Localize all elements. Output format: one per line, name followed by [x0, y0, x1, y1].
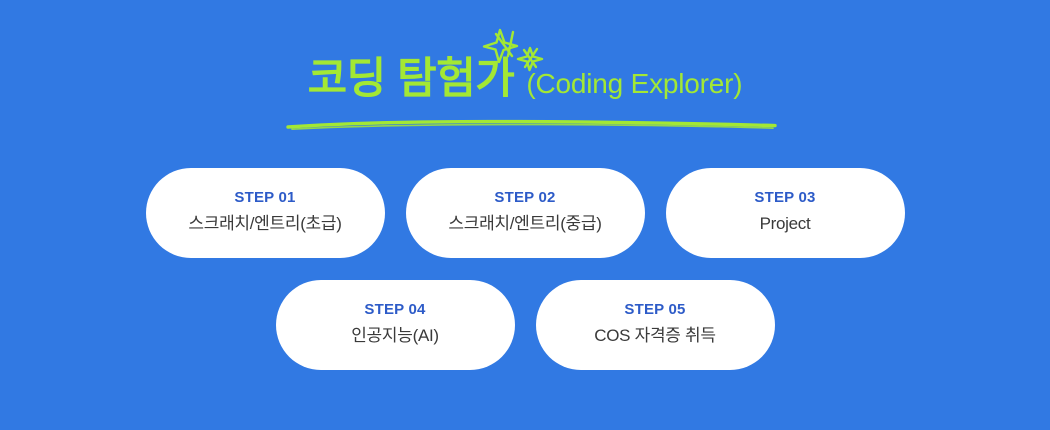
step-card-04[interactable]: STEP 04 인공지능(AI) — [276, 280, 515, 370]
step-card-label: STEP 04 — [364, 301, 425, 319]
step-card-title: COS 자격증 취득 — [594, 326, 716, 346]
step-card-label: STEP 05 — [624, 301, 685, 319]
banner-title-korean: 코딩 탐험가 — [308, 55, 515, 103]
step-card-label: STEP 03 — [754, 189, 815, 207]
step-card-01[interactable]: STEP 01 스크래치/엔트리(초급) — [146, 168, 385, 258]
step-card-03[interactable]: STEP 03 Project — [666, 168, 905, 258]
step-card-label: STEP 02 — [494, 189, 555, 207]
step-card-05[interactable]: STEP 05 COS 자격증 취득 — [536, 280, 775, 370]
step-card-label: STEP 01 — [234, 189, 295, 207]
coding-explorer-banner: 코딩 탐험가(Coding Explorer) STEP 01 스크래치/엔트리… — [0, 0, 1050, 430]
hand-drawn-underline-icon — [286, 118, 778, 132]
banner-title-english: (Coding Explorer) — [526, 68, 742, 99]
banner-title-row: 코딩 탐험가(Coding Explorer) — [0, 58, 1050, 101]
step-card-title: 스크래치/엔트리(중급) — [448, 214, 601, 234]
step-card-title: 스크래치/엔트리(초급) — [188, 214, 341, 234]
step-row-top: STEP 01 스크래치/엔트리(초급) STEP 02 스크래치/엔트리(중급… — [0, 168, 1050, 258]
banner-header: 코딩 탐험가(Coding Explorer) — [0, 22, 1050, 134]
step-card-title: 인공지능(AI) — [351, 326, 439, 346]
step-list: STEP 01 스크래치/엔트리(초급) STEP 02 스크래치/엔트리(중급… — [0, 168, 1050, 370]
step-card-title: Project — [760, 214, 811, 234]
step-card-02[interactable]: STEP 02 스크래치/엔트리(중급) — [406, 168, 645, 258]
step-row-bottom: STEP 04 인공지능(AI) STEP 05 COS 자격증 취득 — [0, 280, 1050, 370]
